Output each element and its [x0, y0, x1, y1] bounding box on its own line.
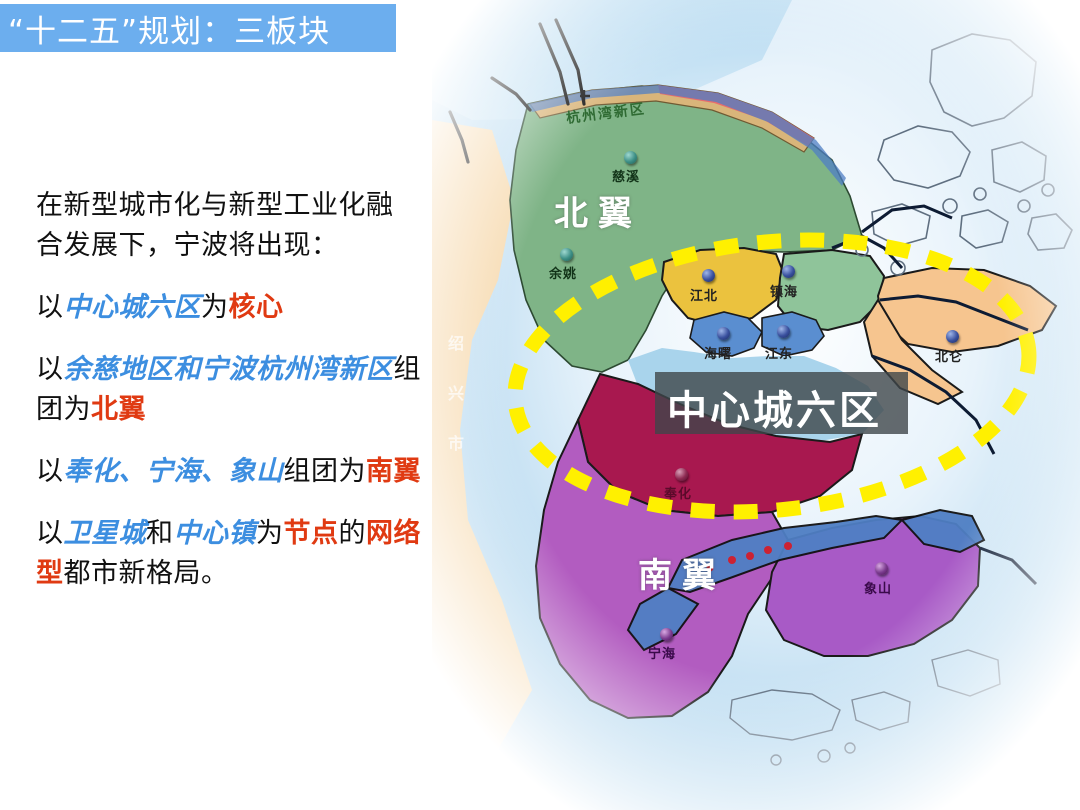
bullet-network-prefix: 以 — [36, 518, 64, 549]
page-title: “十二五”规划：三板块 — [8, 6, 330, 51]
intro-paragraph: 在新型城市化与新型工业化融 合发展下，宁波将出现： — [36, 186, 440, 266]
bullet-south-region: 奉化、宁海、象山 — [64, 456, 284, 487]
city-marker-yuyao-dot — [560, 248, 573, 261]
slide-root: “十二五”规划：三板块 在新型城市化与新型工业化融 合发展下，宁波将出现： 以中… — [0, 0, 1080, 810]
city-marker-jiangdong-dot — [777, 325, 790, 338]
bullet-network-de: 的 — [339, 518, 367, 549]
bullet-network-tail: 都市新格局。 — [64, 558, 229, 589]
city-marker-xiangshan-dot — [875, 562, 888, 575]
bullet-network-region-1: 卫星城 — [64, 518, 147, 549]
city-marker-haishu-dot — [717, 327, 730, 340]
intro-line-2: 合发展下，宁波将出现： — [36, 230, 339, 261]
bullet-south-wing: 以奉化、宁海、象山组团为南翼 — [36, 452, 440, 492]
bullet-network-conj: 和 — [146, 518, 174, 549]
city-marker-cixi-dot — [624, 151, 637, 164]
bullet-south-mid: 组团为 — [284, 456, 367, 487]
bullet-core-region: 中心城六区 — [64, 292, 202, 323]
bullet-core: 以中心城六区为核心 — [36, 288, 440, 328]
bullet-network-region-2: 中心镇 — [174, 518, 257, 549]
city-marker-jiangbei-dot — [702, 269, 715, 282]
city-marker-beilun-dot — [946, 330, 959, 343]
bullet-core-prefix: 以 — [36, 292, 64, 323]
bullet-network-mid: 为 — [256, 518, 284, 549]
bullet-north-region: 余慈地区和宁波杭州湾新区 — [64, 354, 394, 385]
core-area-label: 中心城六区 — [667, 378, 882, 436]
body-text-column: 在新型城市化与新型工业化融 合发展下，宁波将出现： 以中心城六区为核心 以余慈地… — [36, 186, 440, 594]
intro-line-1: 在新型城市化与新型工业化融 — [36, 190, 394, 221]
city-marker-fenghua-dot — [675, 468, 688, 481]
slide-title-banner: “十二五”规划：三板块 — [0, 4, 396, 52]
bullet-network-keyword-1: 节点 — [284, 518, 339, 549]
bullet-south-prefix: 以 — [36, 456, 64, 487]
bullet-network: 以卫星城和中心镇为节点的网络型都市新格局。 — [36, 514, 440, 594]
bullet-core-mid: 为 — [201, 292, 229, 323]
bullet-core-keyword: 核心 — [229, 292, 284, 323]
bullet-north-keyword: 北翼 — [91, 394, 146, 425]
city-marker-zhenhai-dot — [782, 265, 795, 278]
bullet-north-prefix: 以 — [36, 354, 64, 385]
bullet-south-keyword: 南翼 — [366, 456, 421, 487]
bullet-north-wing: 以余慈地区和宁波杭州湾新区组团为北翼 — [36, 350, 440, 430]
city-marker-ninghai-dot — [660, 628, 673, 641]
